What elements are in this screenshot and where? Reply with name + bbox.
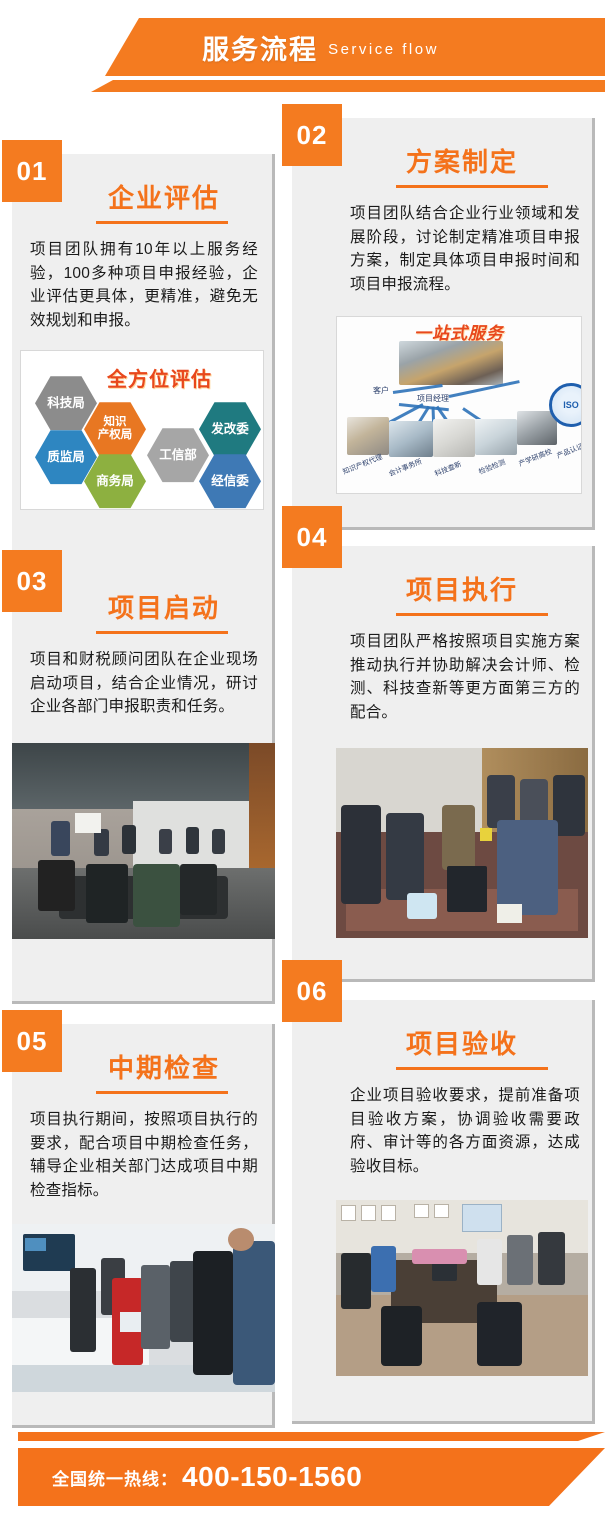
card-05-body: 项目执行期间，按照项目执行的要求，配合项目中期检查任务，辅导企业相关部门达成项目…	[12, 1102, 272, 1216]
footer-hotline-label: 全国统一热线：	[52, 1465, 178, 1490]
oss-photo-3	[475, 419, 517, 455]
hex-item-4: 工信部	[147, 427, 209, 483]
oss-photo-4	[517, 411, 557, 445]
footer-hotline-group: 全国统一热线： 400-150-1560	[52, 1448, 362, 1506]
photo-scene-03	[12, 743, 275, 939]
card-04-body: 项目团队严格按照项目实施方案推动执行并协助解决会计师、检测、科技查新等更方面第三…	[292, 624, 592, 738]
card-01-body: 项目团队拥有10年以上服务经验，100多种项目申报经验，企业评估更具体，更精准，…	[12, 232, 272, 346]
oss-photo-1	[389, 421, 433, 457]
card-06-body: 企业项目验收要求，提前准备项目验收方案，协调验收需要政府、审计等的各方面资源，达…	[292, 1078, 592, 1192]
card-02-title-rule	[396, 185, 548, 188]
photo-scene-05	[12, 1224, 275, 1392]
card-01[interactable]: 01 企业评估 项目团队拥有10年以上服务经验，100多种项目申报经验，企业评估…	[12, 154, 275, 584]
card-01-number: 01	[2, 140, 62, 202]
photo-scene-04	[336, 748, 588, 938]
card-03-body: 项目和财税顾问团队在企业现场启动项目，结合企业情况，研讨企业各部门申报职责和任务…	[12, 642, 272, 733]
page-footer: 全国统一热线： 400-150-1560	[0, 1422, 605, 1538]
card-05-title-rule	[96, 1091, 228, 1094]
photo-scene-06	[336, 1200, 588, 1376]
oss-label-0: 知识产权代理	[341, 452, 384, 477]
hex-diagram: 全方位评估 科技局 知识产权局 发改委 质监局 工信部 商务局 经信委	[21, 351, 263, 509]
page-title: 服务流程	[202, 28, 318, 67]
oss-node-customer: 客户	[373, 385, 389, 396]
card-02-number: 02	[282, 104, 342, 166]
oss-label-1: 会计事务所	[387, 457, 423, 479]
card-01-title-rule	[96, 221, 228, 224]
oss-photo-0	[347, 417, 389, 455]
card-05-photo	[12, 1224, 275, 1392]
card-06-photo	[336, 1200, 588, 1376]
footer-accent-stripe	[18, 1432, 605, 1441]
card-04-photo	[336, 748, 588, 938]
oss-center-photo	[399, 341, 503, 385]
card-03-title-rule	[96, 631, 228, 634]
footer-hotline-number[interactable]: 400-150-1560	[182, 1461, 362, 1493]
card-05[interactable]: 05 中期检查 项目执行期间，按照项目执行的要求，配合项目中期检查任务，辅导企业…	[12, 1024, 275, 1428]
card-03[interactable]: 03 项目启动 项目和财税顾问团队在企业现场启动项目，结合企业情况，研讨企业各部…	[12, 564, 275, 1004]
card-04-number: 04	[282, 506, 342, 568]
oss-label-3: 检验检测	[477, 457, 507, 477]
card-05-number: 05	[2, 1010, 62, 1072]
one-stop-service-diagram: 一站式服务 客户 项目经理	[337, 317, 581, 493]
card-06[interactable]: 06 项目验收 企业项目验收要求，提前准备项目验收方案，协调验收需要政府、审计等…	[292, 1000, 595, 1424]
card-03-photo	[12, 743, 275, 939]
oss-photo-2	[433, 419, 475, 457]
card-06-number: 06	[282, 960, 342, 1022]
page-subtitle: Service flow	[328, 41, 439, 58]
card-02[interactable]: 02 方案制定 项目团队结合企业行业领域和发展阶段，讨论制定精准项目申报方案，制…	[292, 118, 595, 530]
page-header: 服务流程 Service flow	[0, 0, 605, 112]
card-03-number: 03	[2, 550, 62, 612]
card-01-figure: 全方位评估 科技局 知识产权局 发改委 质监局 工信部 商务局 经信委	[20, 350, 264, 510]
oss-label-5: 产品认证基金	[555, 436, 582, 461]
card-04-title-rule	[396, 613, 548, 616]
card-02-figure: 一站式服务 客户 项目经理	[336, 316, 582, 494]
oss-label-4: 产学研高校	[517, 447, 553, 469]
header-accent-stripe	[0, 80, 605, 92]
card-04[interactable]: 04 项目执行 项目团队严格按照项目实施方案推动执行并协助解决会计师、检测、科技…	[292, 546, 595, 982]
card-06-title-rule	[396, 1067, 548, 1070]
oss-label-2: 科技查新	[433, 459, 463, 479]
card-02-body: 项目团队结合企业行业领域和发展阶段，讨论制定精准项目申报方案，制定具体项目申报时…	[292, 196, 592, 310]
header-title-group: 服务流程 Service flow	[0, 18, 605, 76]
hex-item-6: 经信委	[199, 453, 261, 509]
hex-item-2: 发改委	[199, 401, 261, 457]
service-flow-infographic: 服务流程 Service flow 01 企业评估 项目团队拥有10年以上服务经…	[0, 0, 605, 1538]
hex-diagram-title: 全方位评估	[107, 363, 212, 392]
